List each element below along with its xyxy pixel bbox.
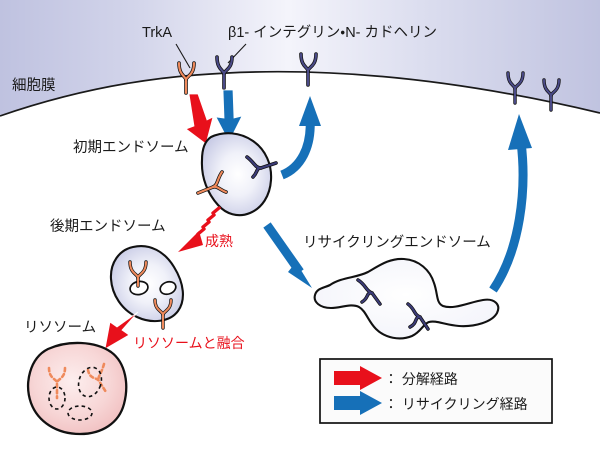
- receptor-trafficking-diagram: 細胞膜 TrkA β1- インテグリン・N- カドヘリン: [0, 0, 600, 462]
- legend-box: [320, 359, 552, 423]
- integrin-cadherin-label: β1- インテグリン・N- カドヘリン: [228, 24, 437, 41]
- early-endosome-label: 初期エンドソーム: [73, 139, 189, 156]
- lysosome: [28, 343, 126, 434]
- arrow-recycle-short-return: [282, 96, 321, 175]
- trka-label: TrkA: [142, 25, 172, 41]
- late-endosome-label: 後期エンドソーム: [50, 218, 166, 235]
- recycling-endosome: [315, 259, 499, 339]
- lysosome-fusion-label: リソソームと融合: [133, 335, 245, 351]
- recycling-endosome-label: リサイクリングエンドソーム: [303, 234, 491, 251]
- early-endosome: [198, 133, 276, 215]
- cell-membrane-label: 細胞膜: [12, 77, 56, 94]
- diagram-canvas: 細胞膜 TrkA β1- インテグリン・N- カドヘリン: [0, 0, 600, 462]
- legend-label-degradation: ： 分解経路: [384, 371, 458, 387]
- legend-label-recycling: ： リサイクリング経路: [384, 396, 528, 412]
- arrow-internalization-degradation: [186, 94, 213, 144]
- legend: ： 分解経路 ： リサイクリング経路: [320, 359, 552, 423]
- arrow-recycle-long-return: [493, 114, 532, 290]
- lysosome-label: リソソーム: [24, 320, 96, 336]
- late-endosome: [111, 246, 183, 328]
- maturation-label: 成熟: [205, 233, 233, 249]
